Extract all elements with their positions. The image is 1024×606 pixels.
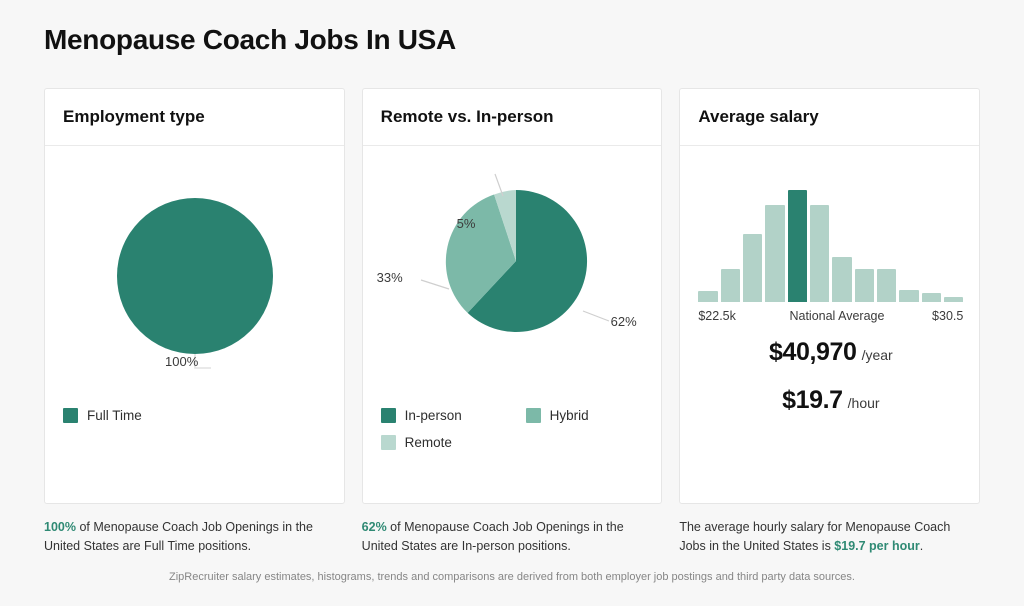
legend-label-remote: Remote	[405, 435, 452, 450]
captions-row: 100% of Menopause Coach Job Openings in …	[44, 518, 980, 557]
card-remote-vs-in-person: Remote vs. In-person	[362, 88, 663, 504]
histogram-bar	[832, 257, 851, 302]
caption-suffix-average-salary: .	[920, 539, 923, 553]
card-body-employment-type: 100% Full Time	[45, 146, 344, 503]
histogram-bar	[877, 269, 896, 302]
employment-type-pie-wrap: 100%	[45, 146, 344, 503]
axis-tick-min: $22.5k	[698, 309, 736, 323]
caption-text-remote-vs-in-person: of Menopause Coach Job Openings in the U…	[362, 520, 624, 553]
page-title: Menopause Coach Jobs In USA	[44, 24, 456, 56]
annual-salary-row: $40,970/year	[698, 338, 963, 367]
hourly-salary-value: $19.7	[782, 386, 843, 414]
legend-swatch-icon-full-time	[63, 408, 78, 423]
hourly-salary-unit: /hour	[848, 395, 880, 411]
employment-type-pie-chart[interactable]	[87, 168, 303, 384]
legend-swatch-icon-in-person	[381, 408, 396, 423]
hourly-salary-row: $19.7/hour	[698, 386, 963, 415]
histogram-bar	[810, 205, 829, 302]
card-header-average-salary: Average salary	[680, 89, 979, 146]
legend-remote-vs-in-person: In-person Hybrid Remote	[381, 408, 646, 450]
caption-highlight-average-salary: $19.7 per hour	[834, 539, 919, 553]
legend-swatch-icon-hybrid	[526, 408, 541, 423]
card-title-employment-type: Employment type	[63, 107, 205, 127]
legend-employment-type: Full Time	[63, 408, 328, 423]
axis-tick-national-average: National Average	[789, 309, 884, 323]
legend-label-in-person: In-person	[405, 408, 462, 423]
caption-average-salary: The average hourly salary for Menopause …	[679, 518, 980, 557]
histogram-bar	[721, 269, 740, 302]
card-header-remote-vs-in-person: Remote vs. In-person	[363, 89, 662, 146]
card-title-remote-vs-in-person: Remote vs. In-person	[381, 107, 554, 127]
card-title-average-salary: Average salary	[698, 107, 818, 127]
stats-page: Menopause Coach Jobs In USA Employment t…	[0, 0, 1024, 606]
cards-row: Employment type 100% Full Time	[44, 88, 980, 504]
annual-salary-value: $40,970	[769, 338, 857, 366]
histogram-bar	[743, 234, 762, 302]
caption-text-employment-type: of Menopause Coach Job Openings in the U…	[44, 520, 313, 553]
legend-item-full-time[interactable]: Full Time	[63, 408, 328, 423]
histogram-bar	[899, 290, 918, 302]
salary-histogram[interactable]	[698, 184, 963, 302]
remote-vs-in-person-pie-chart[interactable]	[391, 156, 641, 366]
histogram-bar	[922, 293, 941, 302]
histogram-bar	[944, 297, 963, 302]
card-average-salary: Average salary	[679, 88, 980, 504]
caption-employment-type: 100% of Menopause Coach Job Openings in …	[44, 518, 345, 557]
histogram-bar	[698, 291, 717, 302]
card-employment-type: Employment type 100% Full Time	[44, 88, 345, 504]
caption-highlight-remote-vs-in-person: 62%	[362, 520, 387, 534]
histogram-bar	[765, 205, 784, 302]
annual-salary-unit: /year	[862, 347, 893, 363]
pie-value-label-hybrid: 33%	[377, 270, 403, 285]
pie-value-label-in-person: 62%	[611, 314, 637, 329]
legend-swatch-icon-remote	[381, 435, 396, 450]
salary-histogram-axis: $22.5k National Average $30.5	[698, 309, 963, 323]
legend-item-remote[interactable]: Remote	[381, 435, 526, 450]
disclaimer-text: ZipRecruiter salary estimates, histogram…	[0, 571, 1024, 583]
pie-value-label-full-time: 100%	[165, 354, 198, 369]
legend-label-full-time: Full Time	[87, 408, 142, 423]
caption-highlight-employment-type: 100%	[44, 520, 76, 534]
axis-tick-max: $30.5	[932, 309, 963, 323]
card-body-remote-vs-in-person: 5% 33% 62% In-person Hybrid Remo	[363, 146, 662, 503]
card-body-average-salary: $22.5k National Average $30.5 $40,970/ye…	[680, 146, 979, 503]
histogram-bar-highlight	[788, 190, 807, 302]
card-header-employment-type: Employment type	[45, 89, 344, 146]
legend-item-hybrid[interactable]: Hybrid	[526, 408, 646, 423]
legend-label-hybrid: Hybrid	[550, 408, 589, 423]
histogram-bar	[855, 269, 874, 302]
legend-item-in-person[interactable]: In-person	[381, 408, 526, 423]
caption-remote-vs-in-person: 62% of Menopause Coach Job Openings in t…	[362, 518, 663, 557]
pie-value-label-remote: 5%	[457, 216, 476, 231]
